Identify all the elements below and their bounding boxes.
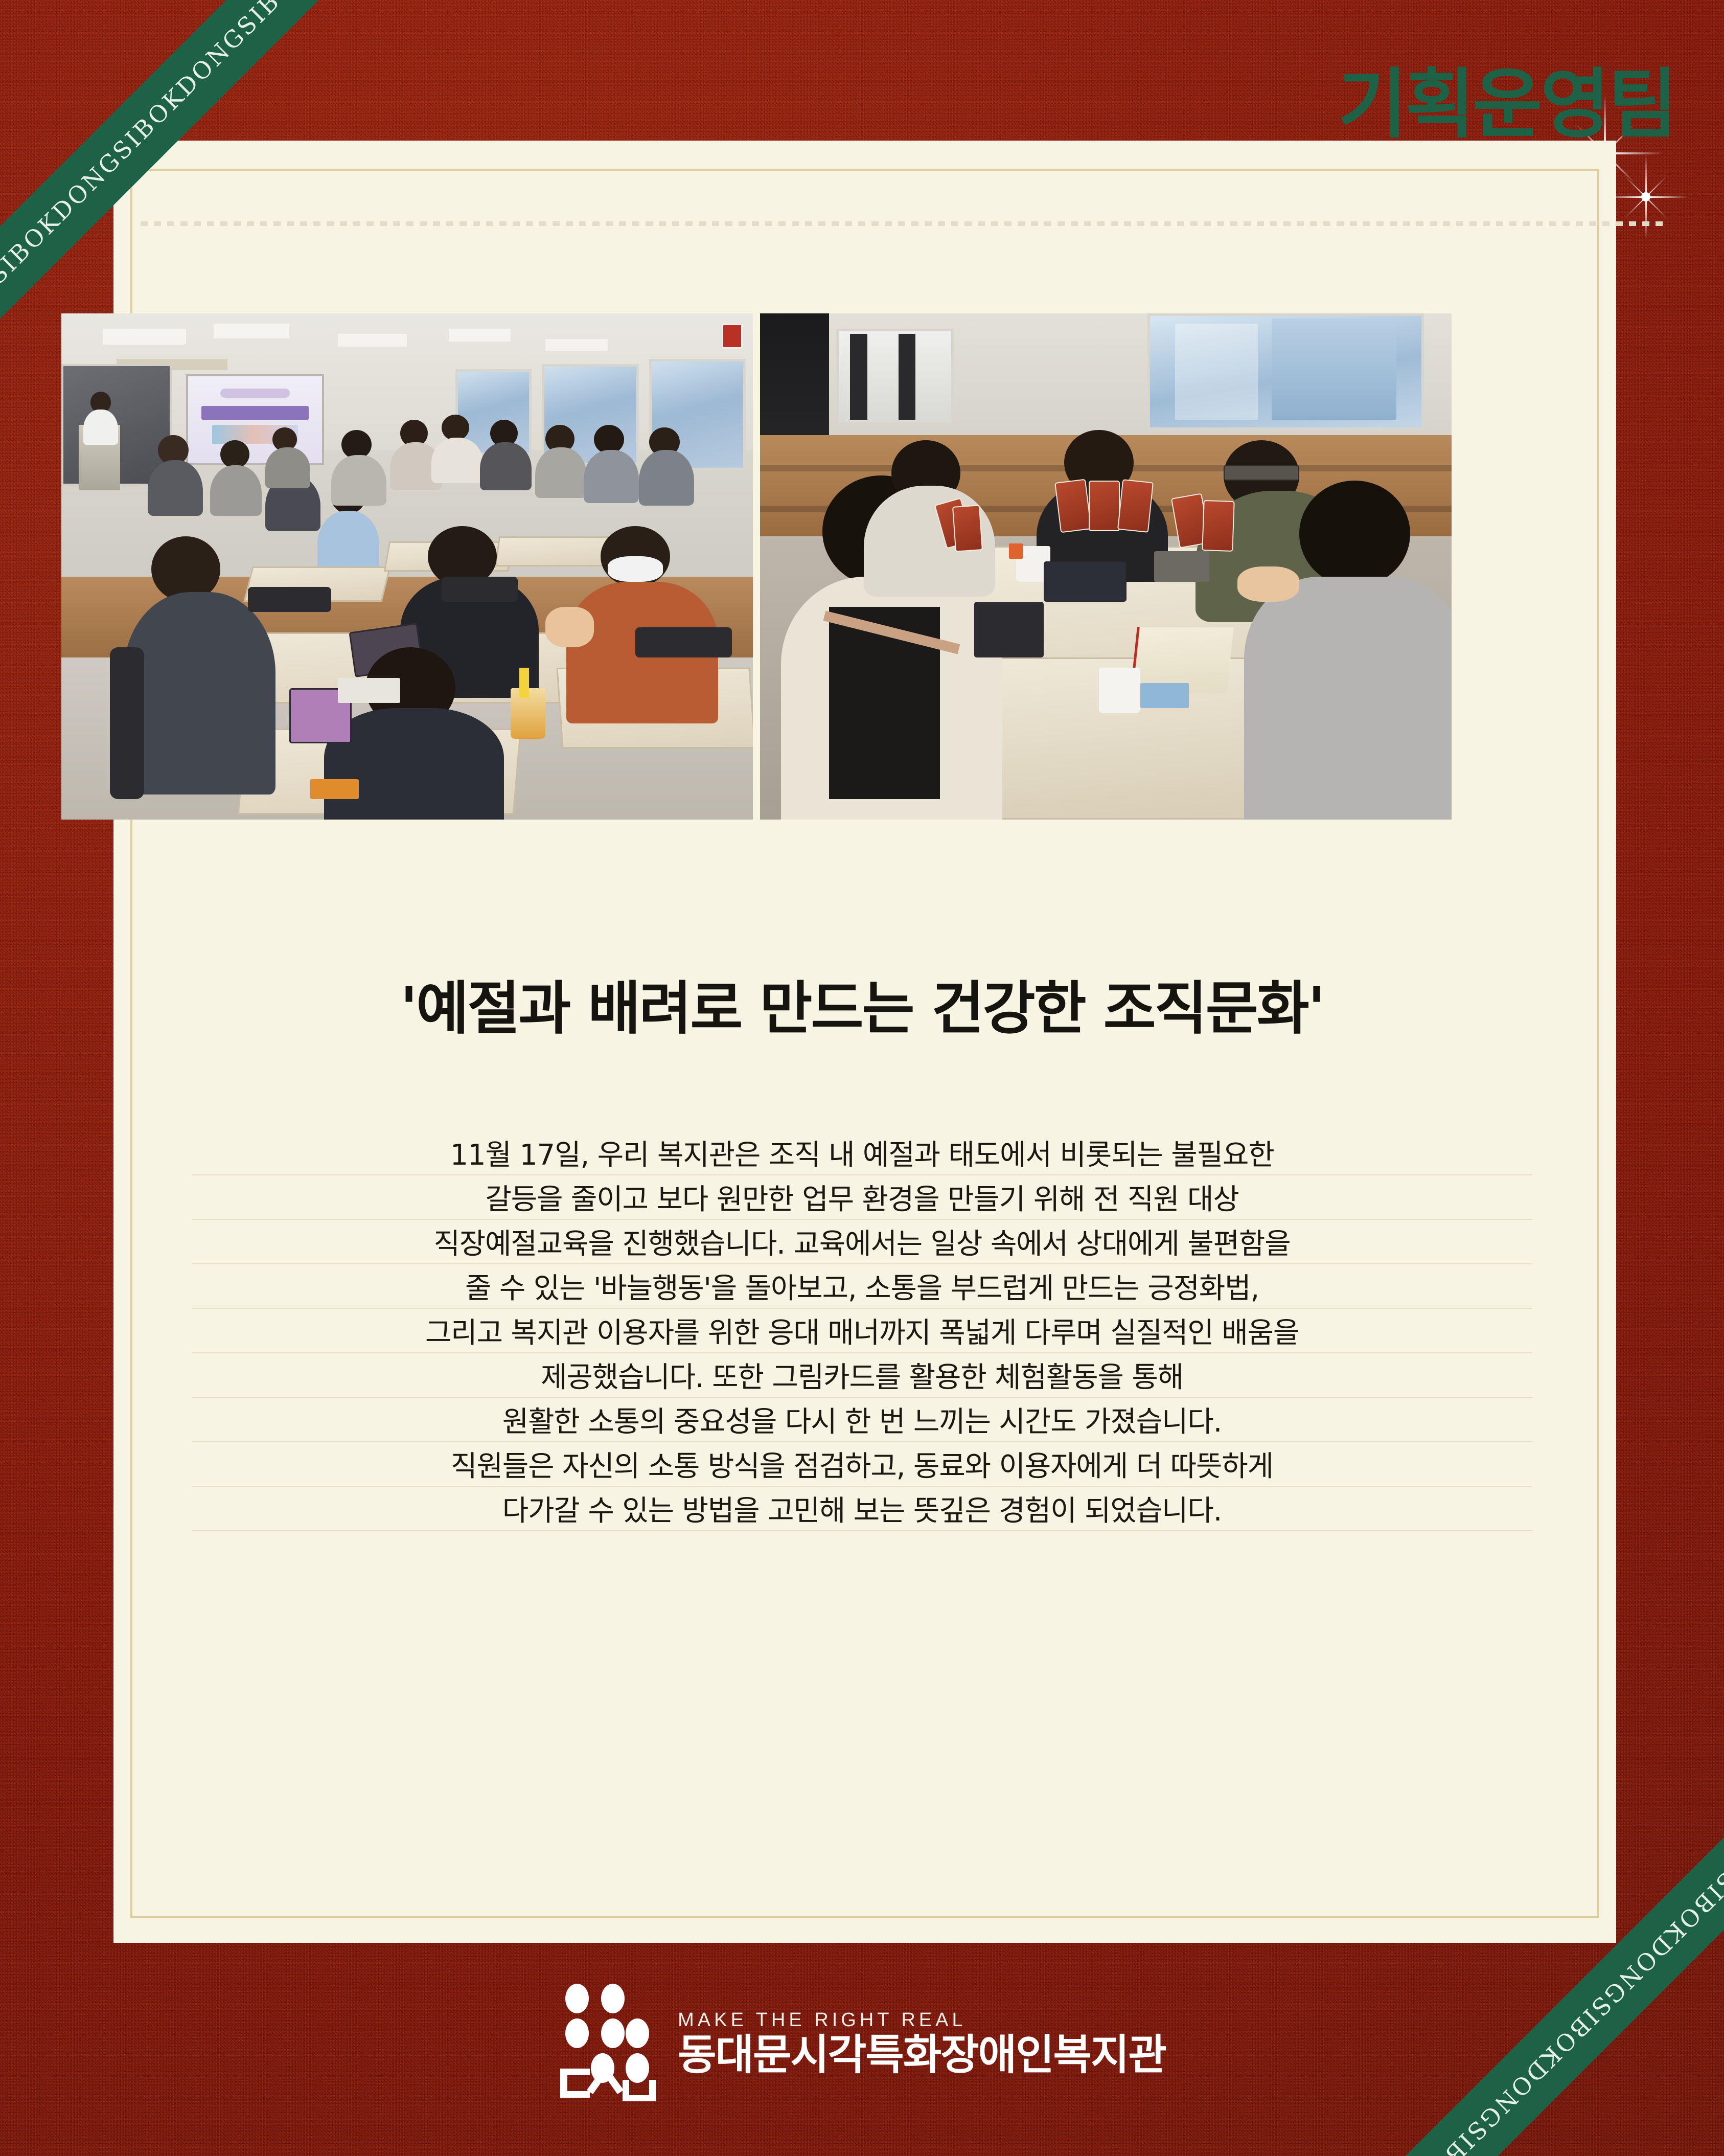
body-line: 갈등을 줄이고 보다 원만한 업무 환경을 만들기 위해 전 직원 대상 [192,1175,1532,1220]
photo-gallery [61,313,1452,820]
body-line: 직원들은 자신의 소통 방식을 점검하고, 동료와 이용자에게 더 따뜻하게 [192,1442,1532,1487]
page-title: 기획운영팀 [1338,66,1675,142]
ribbon-word: DONGSIBOK [171,0,314,102]
ribbon-word: DONGSIBOK [0,207,66,350]
article-body: 11월 17일, 우리 복지관은 조직 내 예절과 태도에서 비롯되는 불필요한… [192,1131,1532,1531]
body-line: 직장예절교육을 진행했습니다. 교육에서는 일상 속에서 상대에게 불편함을 [192,1220,1532,1264]
poster-canvas: 기획운영팀 [0,0,1724,2156]
logo-text-block: MAKE THE RIGHT REAL 동대문시각특화장애인복지관 [678,2009,1166,2076]
body-line: 그리고 복지관 이용자를 위한 응대 매너까지 폭넓게 다루며 실질적인 배움을 [192,1309,1532,1353]
organization-name: 동대문시각특화장애인복지관 [678,2034,1166,2076]
body-line: 제공했습니다. 또한 그림카드를 활용한 체험활동을 통해 [192,1353,1532,1398]
logo-tagline: MAKE THE RIGHT REAL [678,2009,1166,2031]
article-headline: '예절과 배려로 만드는 건강한 조직문화' [0,978,1724,1040]
body-line: 원활한 소통의 중요성을 다시 한 번 느끼는 시간도 가졌습니다. [192,1398,1532,1442]
ribbon-word: DONGSIBOK [1658,1806,1724,1949]
dsn-monogram-icon [558,2059,660,2103]
body-line: 줄 수 있는 '바늘행동'을 돌아보고, 소통을 부드럽게 만드는 긍정화법, [192,1264,1532,1309]
photo-group-activity [760,313,1452,820]
header-dashed-divider [141,221,1668,226]
photo-lecture-room [61,313,753,820]
footer-logo: MAKE THE RIGHT REAL 동대문시각특화장애인복지관 [0,1984,1724,2101]
body-line: 11월 17일, 우리 복지관은 조직 내 예절과 태도에서 비롯되는 불필요한 [192,1131,1532,1175]
braille-dots-logo-icon [558,1984,660,2101]
body-line: 다가갈 수 있는 방법을 고민해 보는 뜻깊은 경험이 되었습니다. [192,1487,1532,1531]
